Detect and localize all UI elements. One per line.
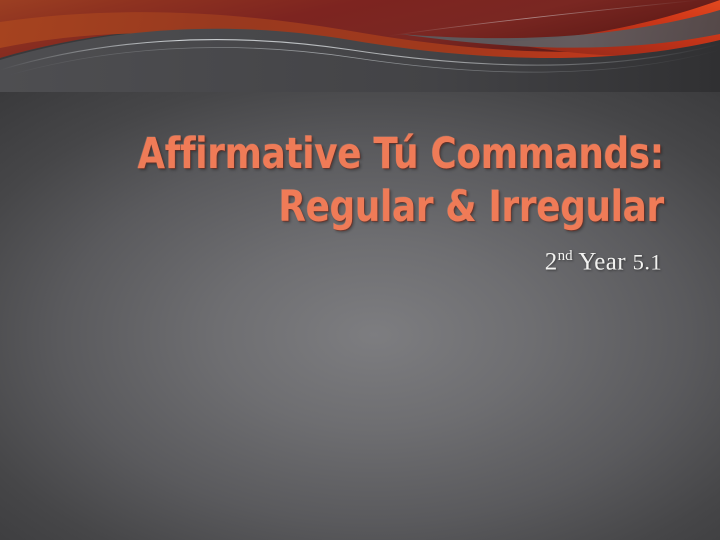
- waveform-banner-decoration: [0, 0, 720, 92]
- title-text-block: Affirmative Tú Commands: Regular & Irreg…: [60, 128, 664, 276]
- page-title: Affirmative Tú Commands: Regular & Irreg…: [108, 128, 664, 234]
- page-subtitle: 2nd Year 5.1: [60, 248, 662, 276]
- page-title-line-2: Regular & Irregular: [108, 181, 664, 234]
- page-title-line-1: Affirmative Tú Commands:: [108, 128, 664, 181]
- presentation-slide: Affirmative Tú Commands: Regular & Irreg…: [0, 0, 720, 540]
- subtitle-ordinal-suffix: nd: [558, 248, 573, 264]
- subtitle-label: Year: [573, 248, 633, 275]
- subtitle-ordinal-number: 2: [545, 248, 558, 275]
- subtitle-lesson-number: 5.1: [633, 249, 662, 274]
